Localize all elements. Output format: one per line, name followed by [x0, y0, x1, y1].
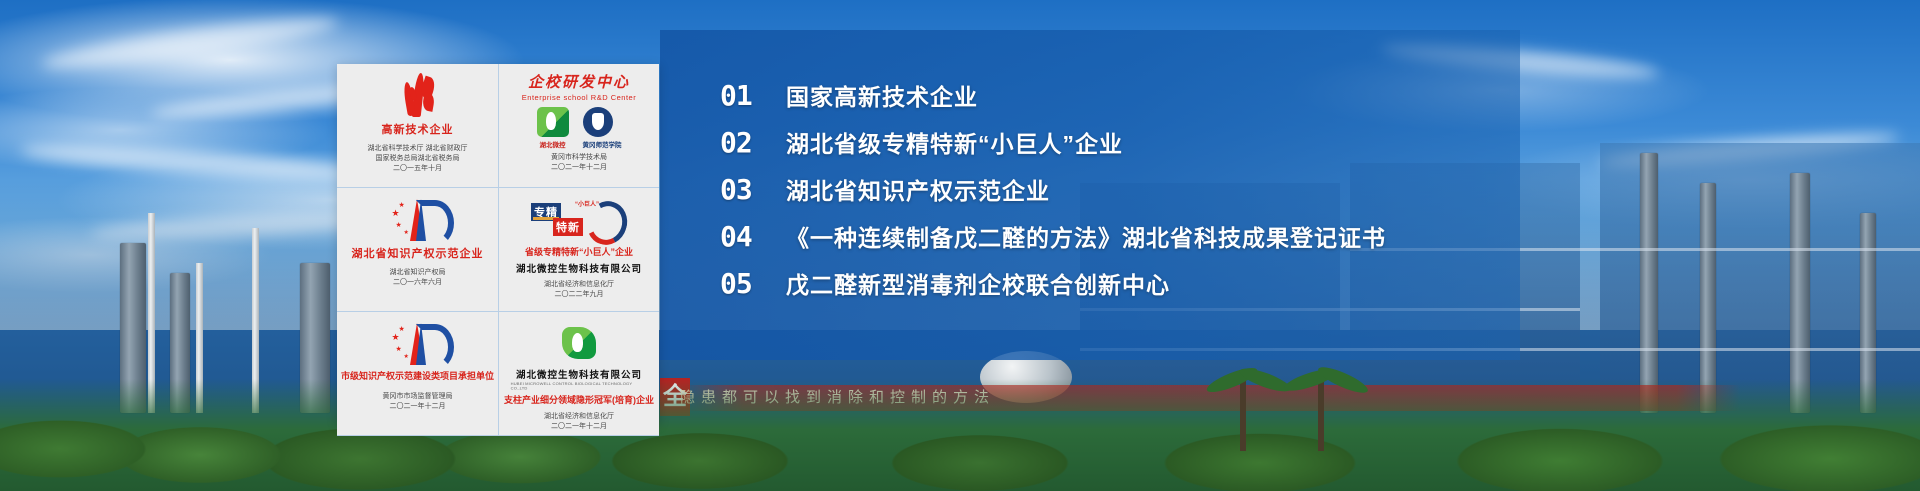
flame-torch-icon: [401, 71, 435, 119]
certificate-footer: 湖北省知识产权局 二〇一六年六月: [390, 268, 446, 288]
honors-list: 01 国家高新技术企业 02 湖北省级专精特新“小巨人”企业 03 湖北省知识产…: [720, 78, 1520, 313]
palm-trunk: [1240, 381, 1246, 451]
certificate-subtitle-en: HUBEI MICROWELL CONTROL BIOLOGICAL TECHN…: [511, 382, 648, 391]
list-item-number: 04: [720, 220, 786, 253]
list-item: 01 国家高新技术企业: [720, 78, 1520, 125]
list-item-label: 湖北省知识产权示范企业: [786, 172, 1050, 206]
certificate-footer: 湖北省经济和信息化厅 二〇二二年九月: [544, 280, 614, 300]
certificate-title: 市级知识产权示范建设类项目承担单位: [341, 369, 494, 382]
landscaping-foreground: [0, 379, 1920, 491]
certificate-card[interactable]: 专精“小巨人” 特新 省级专精特新“小巨人”企业 湖北微控生物科技有限公司 湖北…: [499, 188, 659, 312]
list-item: 02 湖北省级专精特新“小巨人”企业: [720, 125, 1520, 172]
university-seal-icon: [583, 107, 613, 137]
certificate-grid: 高新技术企业 湖北省科学技术厅 湖北省财政厅 国家税务总局湖北省税务局 二〇一五…: [337, 64, 659, 424]
list-item-number: 05: [720, 267, 786, 300]
list-item-label: 戊二醛新型消毒剂企校联合创新中心: [786, 266, 1170, 300]
certificate-title: 支柱产业细分领域隐形冠军(培育)企业: [504, 393, 654, 406]
list-item-number: 03: [720, 173, 786, 206]
certificate-footer: 黄冈市科学技术局 二〇二一年十二月: [551, 153, 607, 173]
partner-logos: 湖北微控 黄冈师范学院: [537, 107, 622, 149]
certificate-card[interactable]: ★ ★ ★ ★ 湖北省知识产权示范企业 湖北省知识产权局 二〇一六年六月: [337, 188, 499, 312]
certificate-title: 省级专精特新“小巨人”企业: [525, 245, 633, 258]
banner-hero: 全 隐患都可以找到消除和控制的方法 01 国家高新技术企业 02 湖北省级专精特…: [0, 0, 1920, 491]
certificate-subtitle: 湖北微控生物科技有限公司: [516, 367, 642, 381]
cloud-wisp: [40, 9, 341, 76]
certificate-subtitle: 湖北微控生物科技有限公司: [516, 261, 642, 275]
certificate-card[interactable]: ★ ★ ★ ★ 市级知识产权示范建设类项目承担单位 黄冈市市场监督管理局 二〇二…: [337, 312, 499, 436]
certificate-title: 企校研发中心: [528, 71, 630, 92]
list-item-label: 国家高新技术企业: [786, 78, 978, 112]
list-item: 03 湖北省知识产权示范企业: [720, 172, 1520, 219]
list-item-number: 02: [720, 126, 786, 159]
list-item-label: 《一种连续制备戊二醛的方法》湖北省科技成果登记证书: [786, 219, 1386, 253]
certificate-footer: 黄冈市市场监督管理局 二〇二一年十二月: [383, 392, 453, 412]
duck-logo-icon: [537, 107, 569, 137]
list-item: 04 《一种连续制备戊二醛的方法》湖北省科技成果登记证书: [720, 219, 1520, 266]
palm-trunk: [1318, 381, 1324, 451]
cloud-wisp: [20, 138, 361, 186]
distillation-tower: [1640, 153, 1658, 413]
enterprise-school-rd-center-icon: 企校研发中心 Enterprise school R&D Center: [522, 71, 636, 102]
list-item-number: 01: [720, 79, 786, 112]
partner-logo-left: 湖北微控: [537, 107, 569, 149]
partner-name: 湖北微控: [537, 139, 569, 149]
partner-logo-right: 黄冈师范学院: [583, 107, 622, 149]
partner-name: 黄冈师范学院: [583, 139, 622, 149]
list-item: 05 戊二醛新型消毒剂企校联合创新中心: [720, 266, 1520, 313]
ip-sail-icon: ★ ★ ★ ★: [392, 319, 444, 367]
green-leaf-icon: [562, 319, 596, 367]
zhuanjing-texin-icon: 专精“小巨人” 特新: [531, 195, 627, 243]
certificate-title: 湖北省知识产权示范企业: [352, 245, 484, 261]
certificate-card[interactable]: 企校研发中心 Enterprise school R&D Center 湖北微控…: [499, 64, 659, 188]
list-item-label: 湖北省级专精特新“小巨人”企业: [786, 125, 1123, 159]
ip-sail-icon: ★ ★ ★ ★: [392, 195, 444, 243]
certificate-footer: 湖北省科学技术厅 湖北省财政厅 国家税务总局湖北省税务局 二〇一五年十月: [368, 144, 468, 174]
certificate-title: 高新技术企业: [382, 121, 454, 137]
certificate-card[interactable]: 高新技术企业 湖北省科学技术厅 湖北省财政厅 国家税务总局湖北省税务局 二〇一五…: [337, 64, 499, 188]
certificate-footer: 湖北省经济和信息化厅 二〇二一年十二月: [544, 412, 614, 432]
certificate-title-en: Enterprise school R&D Center: [522, 93, 636, 102]
distillation-tower: [1790, 173, 1810, 413]
certificate-card[interactable]: 湖北微控生物科技有限公司 HUBEI MICROWELL CONTROL BIO…: [499, 312, 659, 436]
